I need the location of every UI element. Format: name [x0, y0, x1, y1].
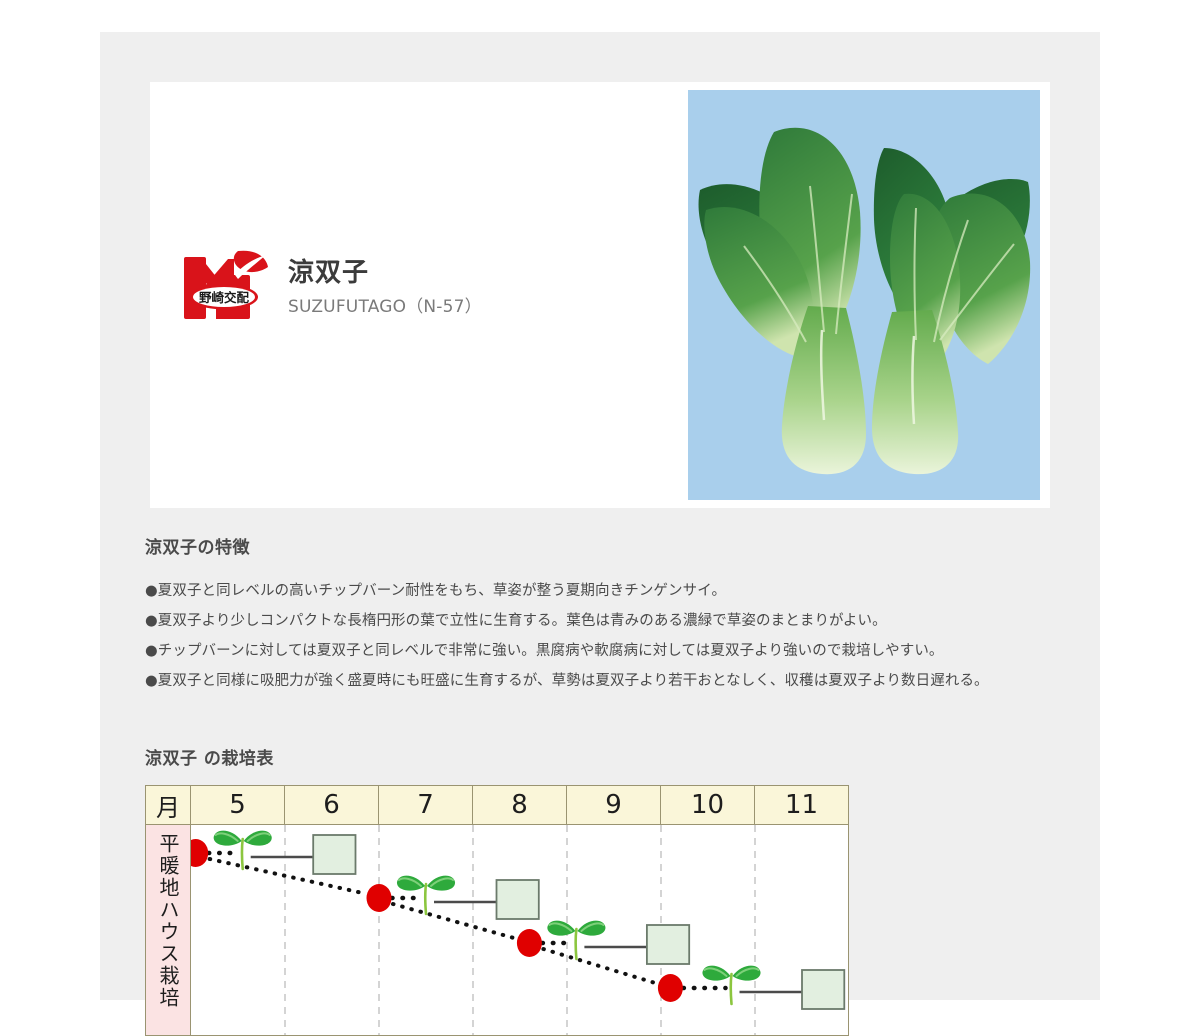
sowing-marker — [658, 974, 683, 1002]
harvest-box — [313, 835, 355, 874]
schedule-heading: 涼双子 の栽培表 — [145, 744, 1055, 769]
product-name-block: 涼双子 SUZUFUTAGO（N-57） — [288, 258, 482, 321]
seedling-icon — [397, 876, 455, 914]
month-header-cell: 9 — [567, 786, 661, 825]
schedule-table-head: 月 5 6 7 8 9 10 11 — [146, 786, 849, 825]
schedule-entry — [367, 876, 539, 919]
schedule-plot — [191, 825, 849, 1035]
sowing-marker — [367, 884, 392, 912]
schedule-entry — [191, 831, 356, 874]
schedule-entry — [517, 921, 689, 964]
schedule-entry — [658, 966, 844, 1009]
features-section: 涼双子の特徴 ●夏双子と同レベルの高いチップバーン耐性をもち、草姿が整う夏期向き… — [145, 533, 1055, 696]
sowing-marker — [191, 839, 208, 867]
month-header-cell: 6 — [285, 786, 379, 825]
product-hero-card: 野崎交配 涼双子 SUZUFUTAGO（N-57） — [150, 82, 1050, 508]
nozaki-logo-icon: 野崎交配 — [178, 245, 274, 333]
product-photo — [688, 90, 1040, 500]
row-label-cell: 平暖地ハウス栽培 — [146, 825, 191, 1036]
feature-line: ●夏双子と同様に吸肥力が強く盛夏時にも旺盛に生育するが、草勢は夏双子より若干おと… — [145, 666, 1055, 696]
harvest-box — [802, 970, 844, 1009]
sowing-marker — [517, 929, 542, 957]
seedling-icon — [214, 831, 272, 869]
page-root: 野崎交配 涼双子 SUZUFUTAGO（N-57） — [0, 0, 1200, 1000]
month-header-cell: 7 — [379, 786, 473, 825]
features-heading: 涼双子の特徴 — [145, 533, 1055, 558]
feature-line: ●チップバーンに対しては夏双子と同レベルで非常に強い。黒腐病や軟腐病に対しては夏… — [145, 636, 1055, 666]
month-header-cell: 10 — [661, 786, 755, 825]
month-header-cell: 8 — [473, 786, 567, 825]
harvest-box — [497, 880, 539, 919]
feature-line: ●夏双子と同レベルの高いチップバーン耐性をもち、草姿が整う夏期向きチンゲンサイ。 — [145, 576, 1055, 606]
row-label-text: 平暖地ハウス栽培 — [158, 825, 178, 1009]
product-name-ja: 涼双子 — [288, 258, 482, 289]
schedule-plot-cell — [191, 825, 849, 1036]
seedling-icon — [547, 921, 605, 959]
month-column-header: 月 — [146, 786, 191, 825]
cultivation-schedule-section: 涼双子 の栽培表 月 5 6 7 8 9 10 11 — [145, 744, 1055, 1036]
schedule-table-body: 平暖地ハウス栽培 — [146, 825, 849, 1036]
schedule-table-wrapper: 月 5 6 7 8 9 10 11 平暖地ハウス栽培 — [145, 785, 849, 1036]
product-name-en: SUZUFUTAGO（N-57） — [288, 295, 482, 321]
logo-badge-text: 野崎交配 — [199, 290, 250, 305]
feature-line: ●夏双子より少しコンパクトな長楕円形の葉で立性に生育する。葉色は青みのある濃緑で… — [145, 606, 1055, 636]
month-header-cell: 11 — [755, 786, 849, 825]
schedule-header-row: 月 5 6 7 8 9 10 11 — [146, 786, 849, 825]
harvest-box — [647, 925, 689, 964]
cultivation-schedule-table: 月 5 6 7 8 9 10 11 平暖地ハウス栽培 — [145, 785, 849, 1036]
seedling-icon — [702, 966, 760, 1004]
sowing-sequence-connector — [543, 949, 658, 984]
product-identity-block: 野崎交配 涼双子 SUZUFUTAGO（N-57） — [178, 245, 482, 333]
schedule-row-greenhouse: 平暖地ハウス栽培 — [146, 825, 849, 1036]
month-header-cell: 5 — [191, 786, 285, 825]
